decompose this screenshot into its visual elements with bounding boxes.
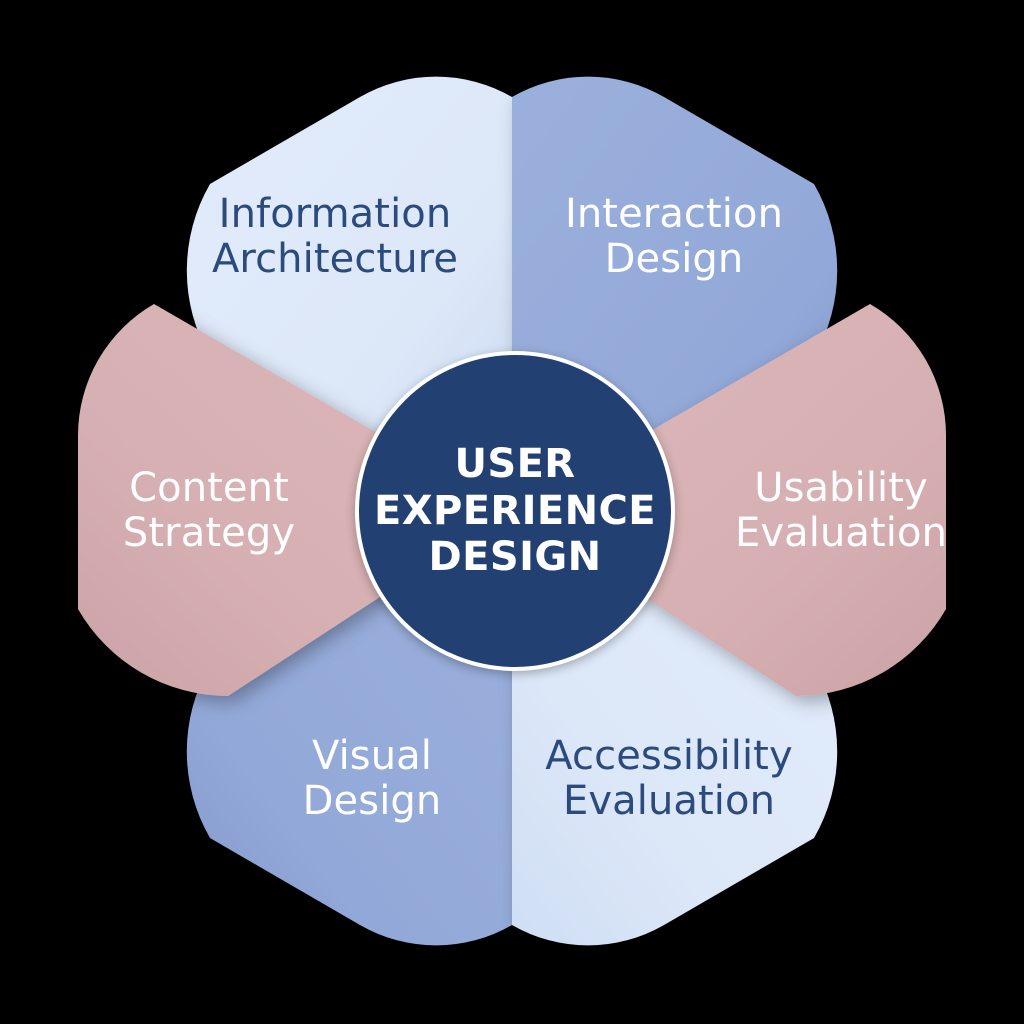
center-hub-label: USER EXPERIENCE DESIGN — [374, 441, 656, 581]
center-hub: USER EXPERIENCE DESIGN — [355, 351, 675, 671]
petal-diagram: Information Architecture Interaction Des… — [0, 0, 1024, 1024]
